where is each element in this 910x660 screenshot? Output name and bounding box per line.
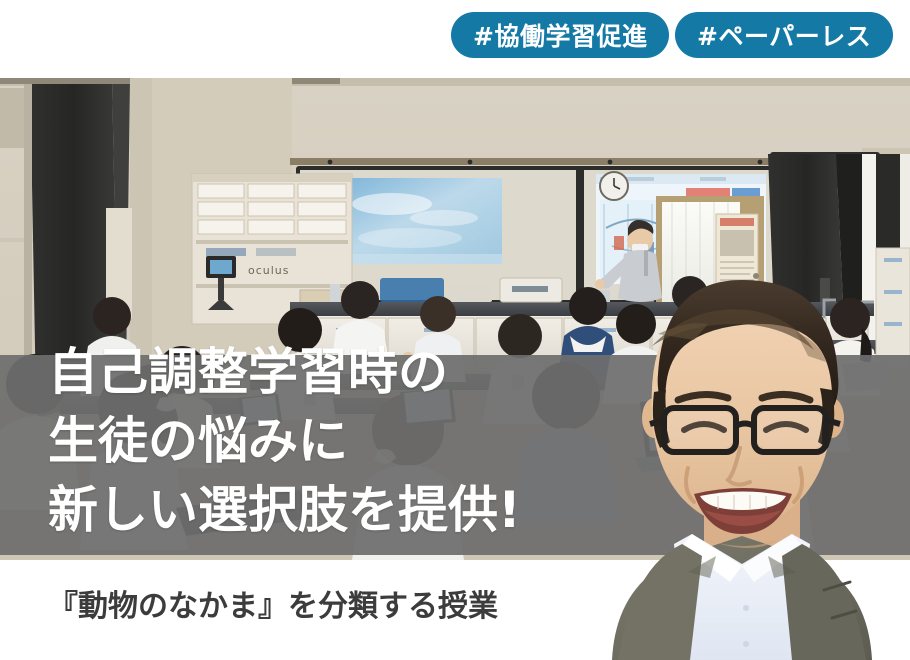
headline-line-1: 自己調整学習時の — [48, 338, 521, 407]
card-surface: oculus — [0, 0, 910, 660]
tag-paperless[interactable]: #ペーパーレス — [675, 12, 893, 58]
headline-line-3: 新しい選択肢を提供! — [48, 476, 521, 545]
svg-text:oculus: oculus — [248, 264, 290, 277]
headline: 自己調整学習時の 生徒の悩みに 新しい選択肢を提供! — [48, 338, 521, 545]
photo-caption: 『動物のなかま』を分類する授業 — [48, 587, 498, 627]
tag-list: #協働学習促進 #ペーパーレス — [0, 0, 910, 78]
article-card: oculus — [0, 0, 910, 660]
tag-collaborative-learning[interactable]: #協働学習促進 — [451, 12, 669, 58]
teacher-portrait-illustration — [596, 272, 910, 660]
teacher-portrait — [596, 272, 910, 660]
headline-line-2: 生徒の悩みに — [48, 407, 521, 476]
